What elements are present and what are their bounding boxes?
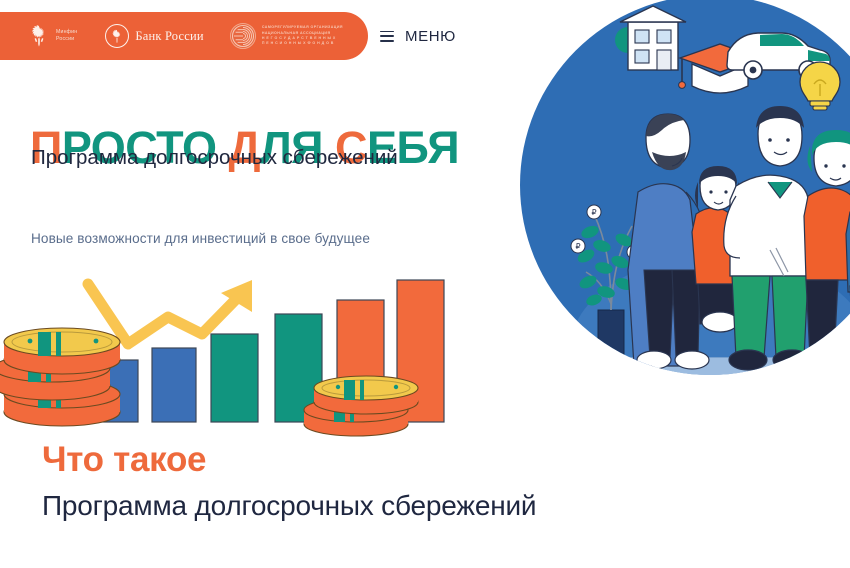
menu-button-label: МЕНЮ (405, 28, 456, 45)
logo-bank-of-russia[interactable]: Банк России (105, 24, 204, 48)
family-with-goals-illustration: ₽₽₽ (520, 0, 850, 400)
chart-bar (152, 348, 196, 422)
savings-growth-chart (0, 262, 470, 442)
person-woman (804, 130, 850, 369)
section-kicker: Что такое (42, 440, 206, 480)
eagle-emblem-icon (28, 24, 50, 48)
coin-stack-left (0, 328, 120, 426)
page-tagline: Новые возможности для инвестиций в свое … (31, 231, 370, 246)
hamburger-menu-icon[interactable] (380, 31, 394, 42)
coin-stack-right (304, 376, 418, 436)
bank-of-russia-icon (105, 24, 129, 48)
logo-napf-label: САМОРЕГУЛИРУЕМАЯ ОРГАНИЗАЦИЯ НАЦИОНАЛЬНА… (262, 25, 343, 47)
section-title: Программа долгосрочных сбережений (42, 490, 536, 522)
chart-bar (211, 334, 258, 422)
logo-napf[interactable]: САМОРЕГУЛИРУЕМАЯ ОРГАНИЗАЦИЯ НАЦИОНАЛЬНА… (230, 23, 343, 49)
page-subtitle: Программа долгосрочных сбережений (31, 145, 431, 171)
menu-button[interactable]: МЕНЮ (380, 12, 456, 60)
napf-fingerprint-icon (230, 23, 256, 49)
partner-logo-bar: Минфин России Банк России (0, 12, 368, 60)
logo-bank-of-russia-label: Банк России (135, 29, 204, 44)
logo-minfin-label: Минфин России (56, 29, 77, 43)
svg-text:₽: ₽ (575, 242, 580, 251)
svg-text:₽: ₽ (591, 208, 596, 217)
logo-minfin[interactable]: Минфин России (28, 24, 77, 48)
